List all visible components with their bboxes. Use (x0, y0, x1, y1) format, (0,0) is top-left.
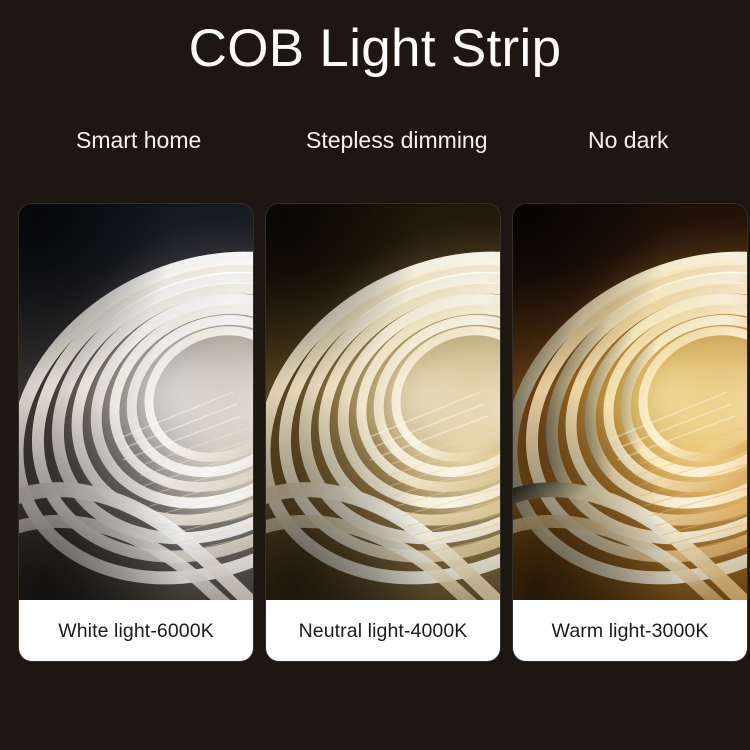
product-photo-neutral-4000k (266, 204, 500, 600)
card-label-text: Warm light-3000K (552, 620, 709, 642)
led-strip-coil-illustration (266, 204, 500, 600)
promo-banner: COB Light Strip Smart home Stepless dimm… (0, 0, 750, 750)
card-label-warm-3000k: Warm light-3000K (513, 600, 747, 661)
feature-stepless-dimming: Stepless dimming (306, 120, 488, 160)
card-label-text: Neutral light-4000K (299, 620, 468, 642)
product-card-neutral-4000k[interactable]: Neutral light-4000K (266, 204, 500, 661)
card-label-white-6000k: White light-6000K (19, 600, 253, 661)
product-card-warm-3000k[interactable]: Warm light-3000K (513, 204, 747, 661)
card-label-text: White light-6000K (58, 620, 214, 642)
feature-smart-home: Smart home (76, 120, 201, 160)
led-strip-coil-illustration (19, 204, 253, 600)
feature-no-dark: No dark (588, 120, 669, 160)
feature-row: Smart home Stepless dimming No dark (0, 120, 750, 160)
product-photo-warm-3000k (513, 204, 747, 600)
led-strip-coil-illustration (513, 204, 747, 600)
card-label-neutral-4000k: Neutral light-4000K (266, 600, 500, 661)
product-photo-white-6000k (19, 204, 253, 600)
page-title: COB Light Strip (0, 18, 750, 80)
product-card-white-6000k[interactable]: White light-6000K (19, 204, 253, 661)
product-card-list: White light-6000K (0, 204, 750, 662)
